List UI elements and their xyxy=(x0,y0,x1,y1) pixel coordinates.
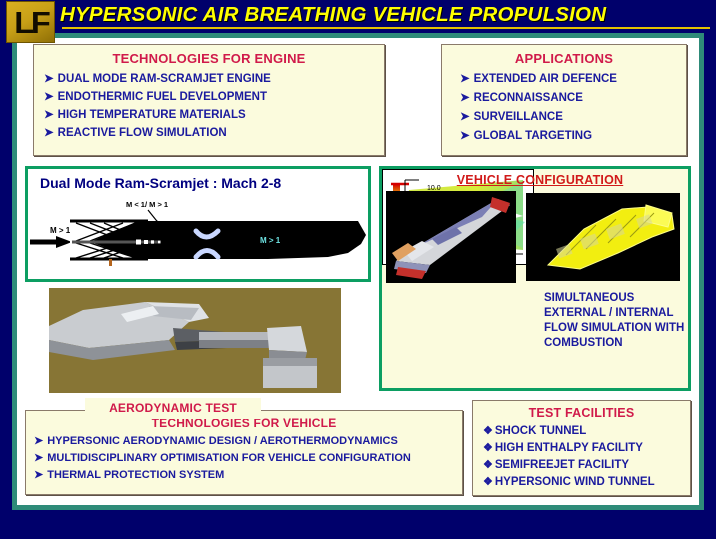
list-item: ➤RECONNAISSANCE xyxy=(460,90,686,104)
vehicle-wireframe-render-image xyxy=(526,193,680,281)
diamond-bullet-icon: ❖ xyxy=(483,441,493,454)
arrow-bullet-icon: ➤ xyxy=(34,468,43,481)
arrow-bullet-icon: ➤ xyxy=(460,90,470,104)
vehicle-3d-render-image xyxy=(386,191,516,283)
cfd-caption: SIMULTANEOUS EXTERNAL / INTERNAL FLOW SI… xyxy=(544,291,690,351)
scramjet-throat-label: M < 1/ M > 1 xyxy=(126,200,168,209)
aerodynamic-test-photo xyxy=(49,288,341,393)
list-item-label: HYPERSONIC WIND TUNNEL xyxy=(495,476,655,488)
arrow-bullet-icon: ➤ xyxy=(44,71,54,85)
list-item: ❖HIGH ENTHALPY FACILITY xyxy=(483,441,690,454)
tech-vehicle-list: ➤HYPERSONIC AERODYNAMIC DESIGN / AEROTHE… xyxy=(26,434,462,481)
arrow-bullet-icon: ➤ xyxy=(460,71,470,85)
vehicle-configuration-title: VEHICLE CONFIGURATION xyxy=(440,173,640,187)
technologies-for-engine-panel: TECHNOLOGIES FOR ENGINE ➤DUAL MODE RAM-S… xyxy=(33,44,385,156)
list-item: ➤HYPERSONIC AERODYNAMIC DESIGN / AEROTHE… xyxy=(34,434,462,447)
list-item-label: HYPERSONIC AERODYNAMIC DESIGN / AEROTHER… xyxy=(47,435,398,447)
diamond-bullet-icon: ❖ xyxy=(483,475,493,488)
inflow-arrow-icon xyxy=(30,236,72,248)
arrow-bullet-icon: ➤ xyxy=(44,89,54,103)
list-item: ➤SURVEILLANCE xyxy=(460,109,686,123)
test-facilities-title: TEST FACILITIES xyxy=(473,406,690,420)
list-item: ➤DUAL MODE RAM-SCRAMJET ENGINE xyxy=(44,71,384,85)
tech-engine-title: TECHNOLOGIES FOR ENGINE xyxy=(34,51,384,66)
scramjet-title: Dual Mode Ram-Scramjet : Mach 2-8 xyxy=(40,175,281,191)
slide-frame: TECHNOLOGIES FOR ENGINE ➤DUAL MODE RAM-S… xyxy=(12,33,704,510)
list-item-label: SEMIFREEJET FACILITY xyxy=(495,459,629,471)
scramjet-exit-label: M > 1 xyxy=(260,236,281,245)
list-item: ➤ENDOTHERMIC FUEL DEVELOPMENT xyxy=(44,89,384,103)
list-item-label: SHOCK TUNNEL xyxy=(495,425,586,437)
list-item-label: THERMAL PROTECTION SYSTEM xyxy=(47,469,224,481)
slide-canvas: LF HYPERSONIC AIR BREATHING VEHICLE PROP… xyxy=(0,0,716,539)
list-item: ➤EXTENDED AIR DEFENCE xyxy=(460,71,686,85)
slide-header: LF HYPERSONIC AIR BREATHING VEHICLE PROP… xyxy=(0,0,716,32)
aerodynamic-test-label: AERODYNAMIC TEST xyxy=(85,398,261,419)
list-item-label: MULTIDISCIPLINARY OPTIMISATION FOR VEHIC… xyxy=(47,452,411,464)
arrow-bullet-icon: ➤ xyxy=(44,107,54,121)
test-facilities-list: ❖SHOCK TUNNEL ❖HIGH ENTHALPY FACILITY ❖S… xyxy=(473,424,690,488)
applications-panel: APPLICATIONS ➤EXTENDED AIR DEFENCE ➤RECO… xyxy=(441,44,687,156)
lf-logo: LF xyxy=(6,1,55,43)
scramjet-schematic-panel: Dual Mode Ram-Scramjet : Mach 2-8 xyxy=(25,166,371,282)
tech-engine-list: ➤DUAL MODE RAM-SCRAMJET ENGINE ➤ENDOTHER… xyxy=(34,71,384,139)
page-title: HYPERSONIC AIR BREATHING VEHICLE PROPULS… xyxy=(60,2,710,28)
logo-text: LF xyxy=(14,7,47,38)
slide-page: TECHNOLOGIES FOR ENGINE ➤DUAL MODE RAM-S… xyxy=(17,38,699,505)
list-item-label: DUAL MODE RAM-SCRAMJET ENGINE xyxy=(58,73,271,85)
list-item-label: REACTIVE FLOW SIMULATION xyxy=(58,127,227,139)
list-item: ➤HIGH TEMPERATURE MATERIALS xyxy=(44,107,384,121)
applications-list: ➤EXTENDED AIR DEFENCE ➤RECONNAISSANCE ➤S… xyxy=(442,71,686,142)
list-item-label: HIGH ENTHALPY FACILITY xyxy=(495,442,643,454)
diamond-bullet-icon: ❖ xyxy=(483,424,493,437)
vehicle-configuration-panel: VEHICLE CONFIGURATION xyxy=(379,166,691,391)
arrow-bullet-icon: ➤ xyxy=(460,109,470,123)
list-item: ➤MULTIDISCIPLINARY OPTIMISATION FOR VEHI… xyxy=(34,451,462,464)
arrow-bullet-icon: ➤ xyxy=(34,451,43,464)
list-item-label: ENDOTHERMIC FUEL DEVELOPMENT xyxy=(58,91,267,103)
list-item-label: GLOBAL TARGETING xyxy=(474,130,592,142)
list-item: ❖SHOCK TUNNEL xyxy=(483,424,690,437)
diamond-bullet-icon: ❖ xyxy=(483,458,493,471)
list-item-label: EXTENDED AIR DEFENCE xyxy=(474,73,617,85)
list-item-label: RECONNAISSANCE xyxy=(474,92,583,104)
test-facilities-panel: TEST FACILITIES ❖SHOCK TUNNEL ❖HIGH ENTH… xyxy=(472,400,691,496)
arrow-bullet-icon: ➤ xyxy=(44,125,54,139)
list-item: ➤REACTIVE FLOW SIMULATION xyxy=(44,125,384,139)
arrow-bullet-icon: ➤ xyxy=(460,128,470,142)
title-underline xyxy=(62,27,710,29)
list-item: ❖SEMIFREEJET FACILITY xyxy=(483,458,690,471)
scramjet-diagram: M > 1 M < 1/ M > 1 M > 1 xyxy=(28,195,368,281)
list-item: ➤THERMAL PROTECTION SYSTEM xyxy=(34,468,462,481)
list-item: ❖HYPERSONIC WIND TUNNEL xyxy=(483,475,690,488)
arrow-bullet-icon: ➤ xyxy=(34,434,43,447)
list-item-label: SURVEILLANCE xyxy=(474,111,563,123)
applications-title: APPLICATIONS xyxy=(442,51,686,66)
list-item-label: HIGH TEMPERATURE MATERIALS xyxy=(58,109,246,121)
list-item: ➤GLOBAL TARGETING xyxy=(460,128,686,142)
technologies-for-vehicle-panel: TECHNOLOGIES FOR VEHICLE ➤HYPERSONIC AER… xyxy=(25,410,463,495)
scramjet-inlet-label: M > 1 xyxy=(50,226,71,235)
